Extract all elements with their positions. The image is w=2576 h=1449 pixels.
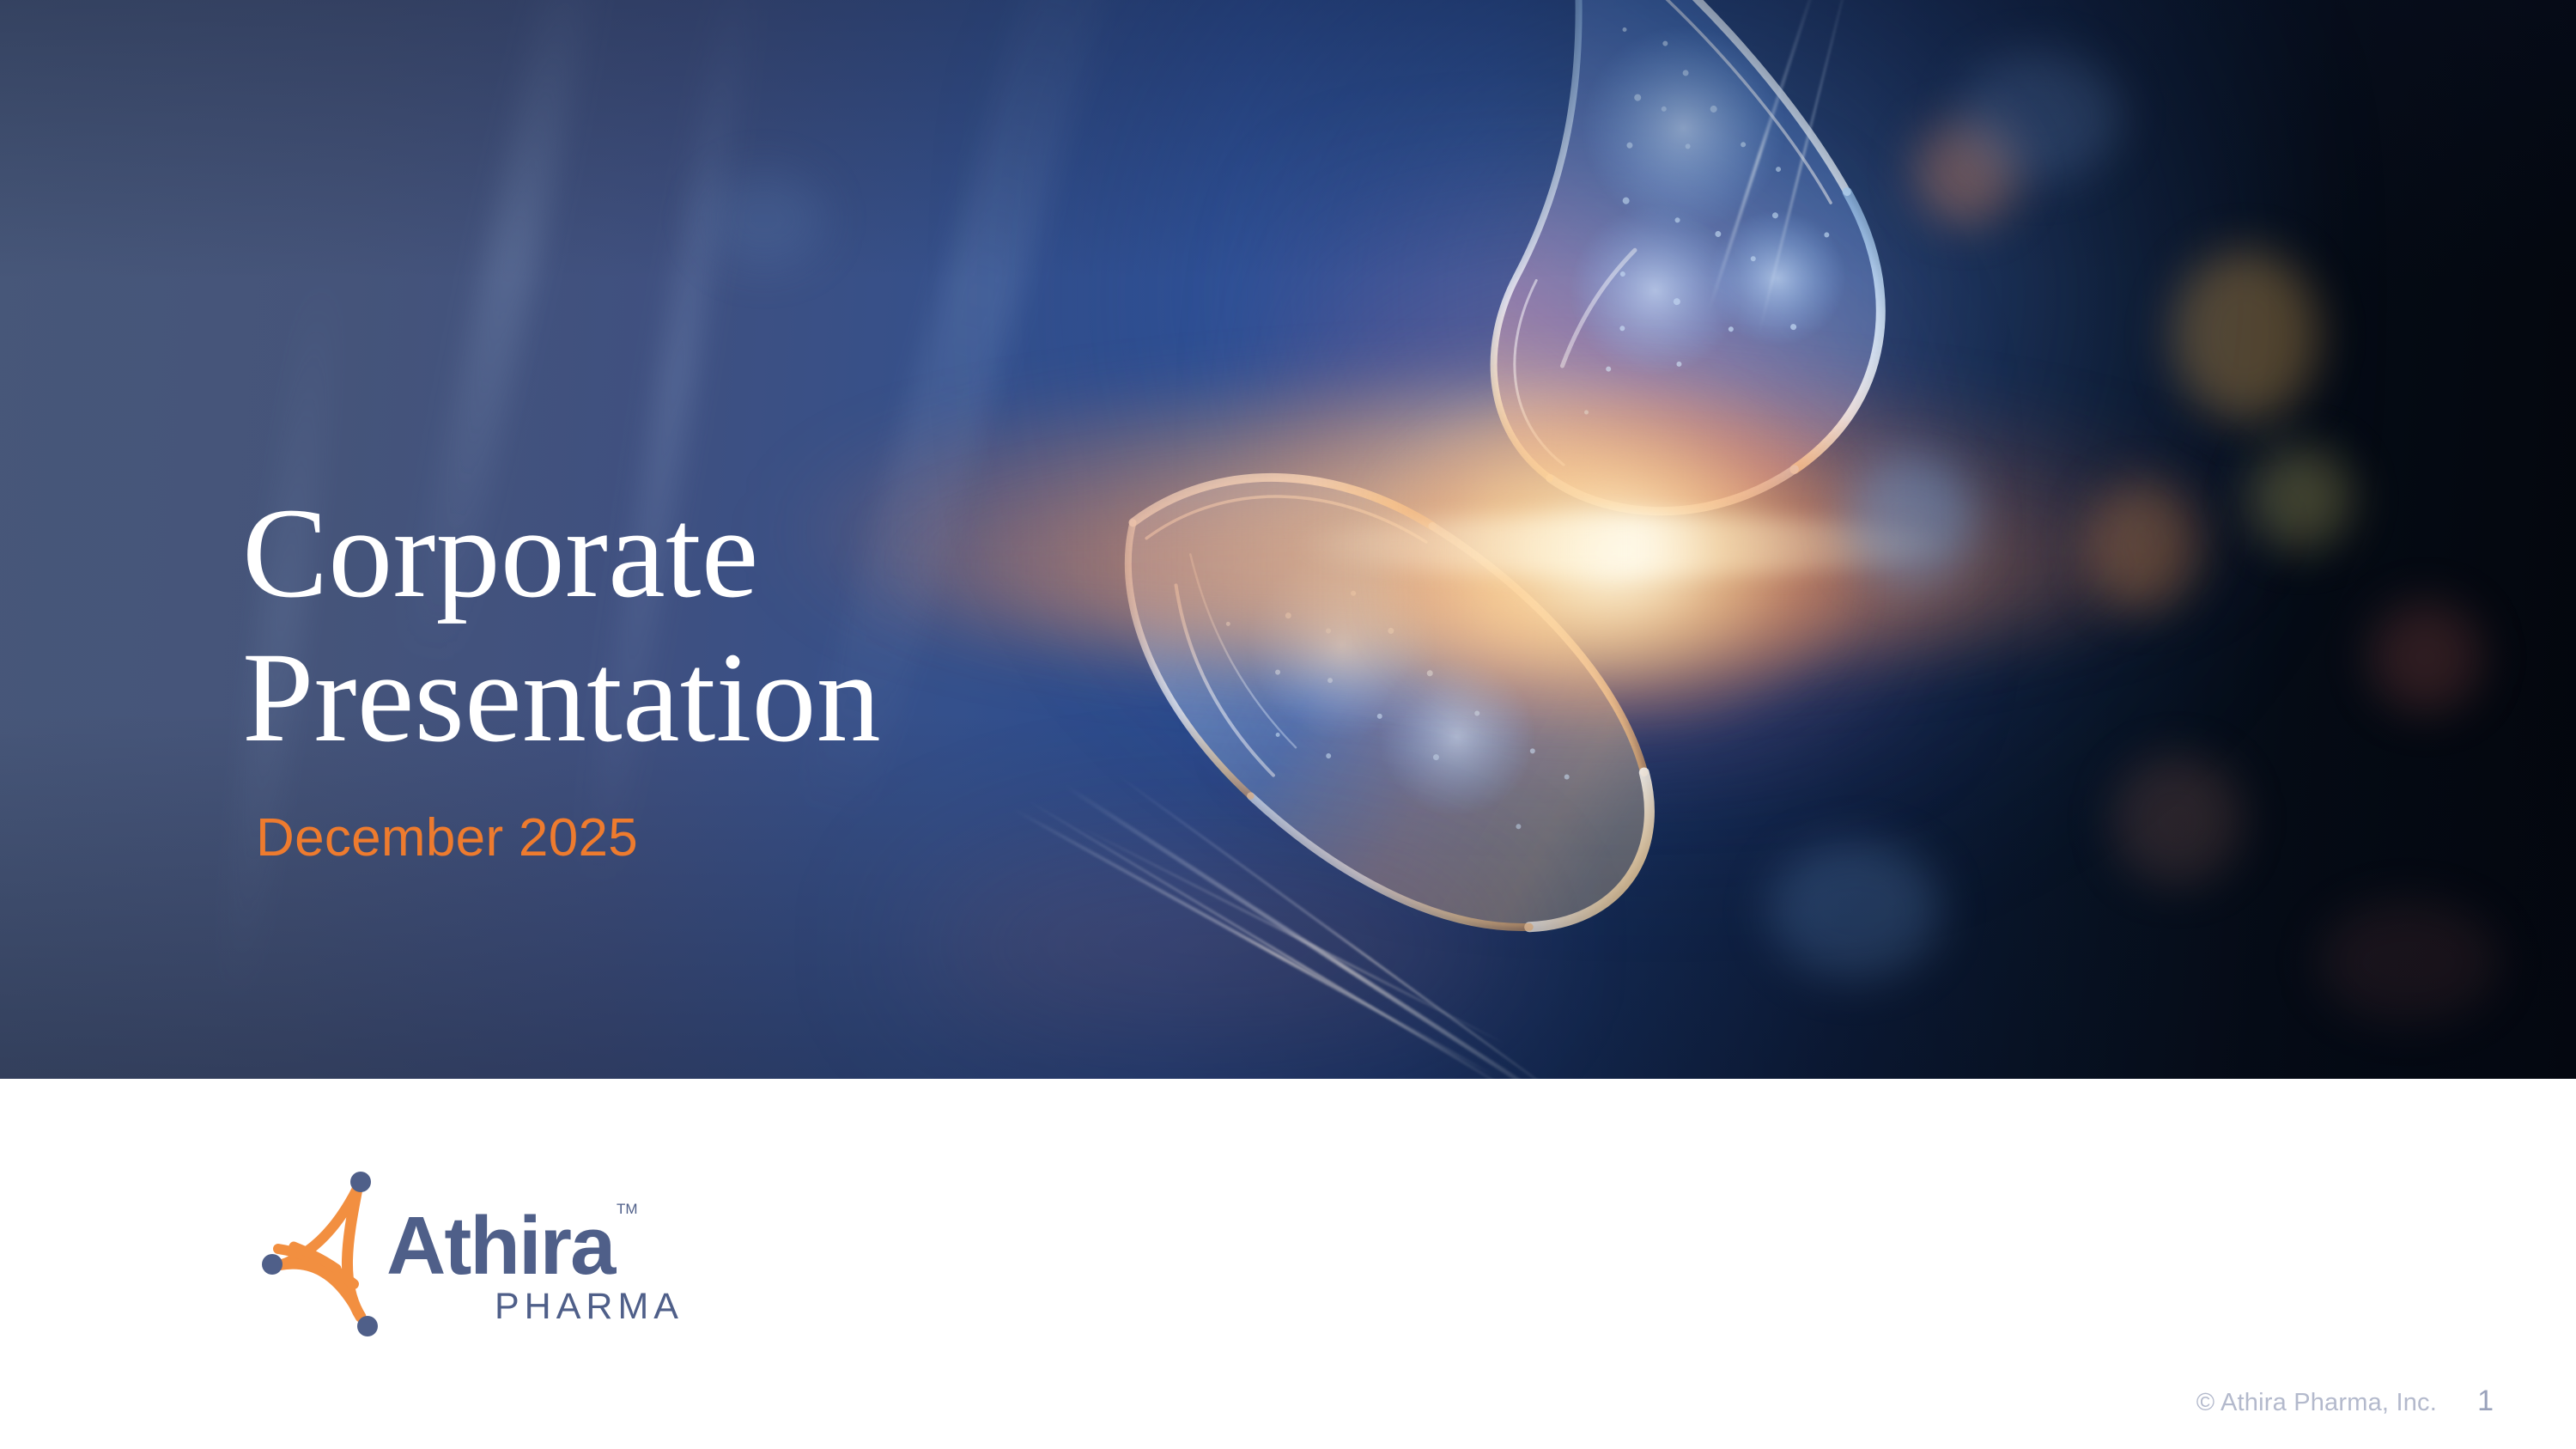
slide: Corporate Presentation December 2025 Ath… [0,0,2576,1449]
page-title: Corporate Presentation [242,481,1101,770]
copyright-notice: © Athira Pharma, Inc. [2196,1389,2437,1417]
logo-dot [350,1172,371,1192]
logo-dot [357,1316,378,1336]
athira-pharma-logo[interactable]: Athira TM PHARMA [258,1164,678,1353]
logo-tagline: PHARMA [495,1286,678,1327]
title-block: Corporate Presentation December 2025 [242,481,1101,868]
footer-meta: © Athira Pharma, Inc. 1 [2196,1385,2494,1418]
page-number: 1 [2475,1385,2494,1418]
logo-wordmark: Athira [386,1200,617,1292]
athira-star-mark [278,1189,361,1317]
slide-date: December 2025 [256,807,1101,868]
logo-dot [262,1254,283,1275]
logo-trademark: TM [617,1201,638,1217]
